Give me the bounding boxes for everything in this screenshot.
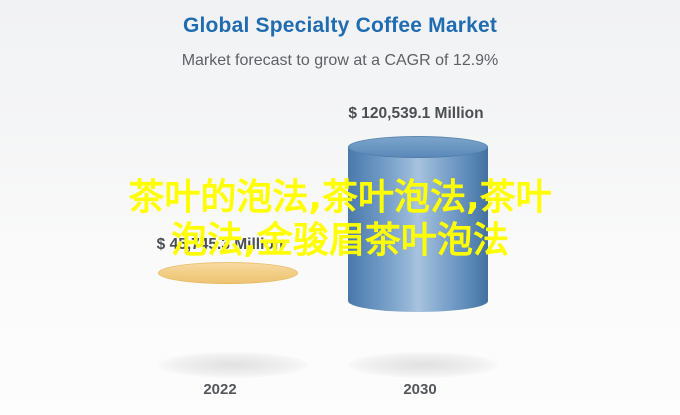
x-axis-label-2022: 2022 [150,381,290,398]
bar-2022-top-cap [158,262,298,284]
bar-2030-growth-body [348,147,488,301]
chart-image: Global Specialty Coffee Market Market fo… [0,0,680,415]
bar-2030-base-bottom-cap [348,335,488,357]
bar-2022 [158,262,298,368]
bar-2030 [348,136,488,368]
bar-2022-bottom-cap [158,335,298,357]
plot-area: $ 45,745.3 Million $ 120,539.1 Million 2… [0,0,680,415]
bar-2030-top-cap [348,136,488,158]
x-axis-label-2030: 2030 [350,381,490,398]
bar-value-label-2022: $ 45,745.3 Million [120,236,320,254]
bar-value-label-2030: $ 120,539.1 Million [300,105,532,123]
